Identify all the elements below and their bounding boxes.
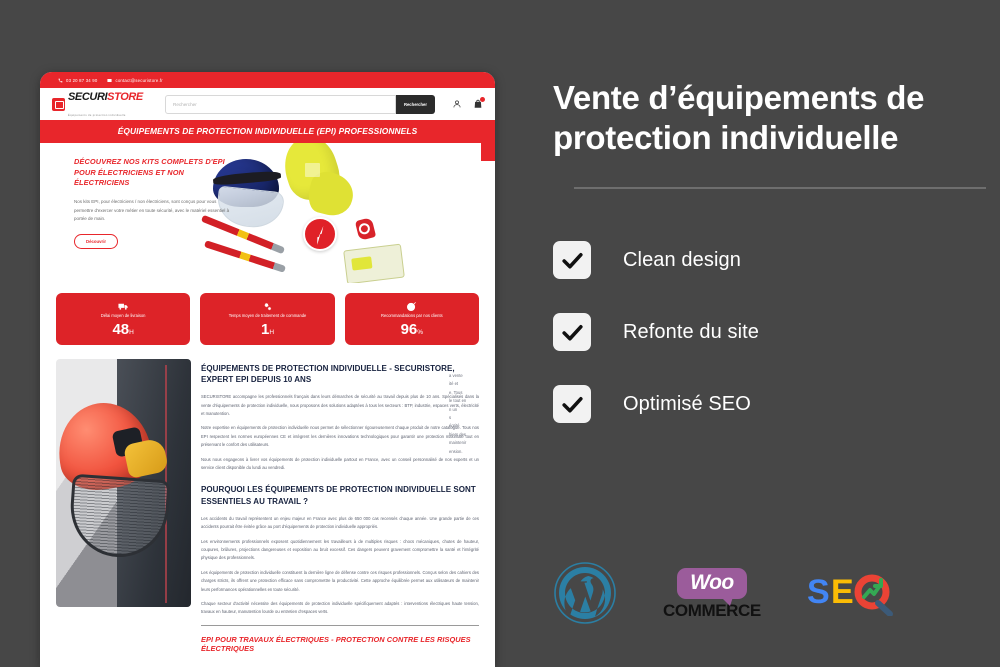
logo-tagline: Équipements de protection individuelle (68, 114, 126, 117)
stat-unit: H (129, 329, 134, 336)
article-heading-1: ÉQUIPEMENTS DE PROTECTION INDIVIDUELLE -… (201, 363, 479, 385)
feature-label: Refonte du site (623, 321, 759, 344)
article-paragraph: Nous nous engageons à livrer vos équipem… (201, 456, 479, 473)
article-paragraph: Chaque secteur d'activité nécessite des … (201, 600, 479, 617)
logo-name-red: STORE (107, 91, 143, 103)
article-paragraph: Les équipements de protection individuel… (201, 569, 479, 594)
stat-value: 96% (349, 322, 475, 337)
stat-card: Délai moyen de livraison 48H (56, 293, 190, 345)
gears-icon (204, 299, 330, 310)
technology-logos: Woo COMMERCE S E (553, 561, 899, 625)
woocommerce-logo-icon: Woo COMMERCE (663, 568, 761, 619)
truck-icon (60, 299, 186, 310)
stat-label: Délai moyen de livraison (60, 313, 186, 319)
electrical-hazard-sign-icon (303, 217, 337, 251)
feature-item-refonte-du-site: Refonte du site (553, 313, 1000, 351)
article-heading-2: POURQUOI LES ÉQUIPEMENTS DE PROTECTION I… (201, 484, 479, 506)
site-topbar: 03 20 87 34 90 contact@securistore.fr (40, 72, 495, 88)
feature-label: Clean design (623, 249, 741, 272)
topbar-email[interactable]: contact@securistore.fr (107, 78, 162, 83)
svg-text:S: S (807, 573, 830, 611)
stat-unit: % (417, 329, 423, 336)
topbar-email-text: contact@securistore.fr (115, 78, 162, 83)
stat-card: Recommandations par nos clients 96% (345, 293, 479, 345)
site-logo[interactable]: SECURISTORE Équipements de protection in… (52, 88, 157, 120)
feature-list: Clean design Refonte du site Optimisé SE… (553, 241, 1000, 423)
stat-number: 96 (401, 321, 418, 338)
phone-icon (58, 78, 63, 83)
hero-body: Nos kits EPI, pour électriciens / non él… (74, 198, 234, 223)
stat-label: Temps moyen de traitement de commande (204, 313, 330, 319)
site-header: SECURISTORE Équipements de protection in… (40, 88, 495, 120)
title-divider (574, 187, 986, 189)
stats-row: Délai moyen de livraison 48H Temps moyen… (40, 283, 495, 359)
article-paragraph: SECURISTORE accompagne les professionnel… (201, 393, 479, 418)
worker-photo (56, 359, 191, 607)
glove-label-icon (305, 163, 320, 177)
topbar-phone[interactable]: 03 20 87 34 90 (58, 78, 97, 83)
feature-item-optimise-seo: Optimisé SEO (553, 385, 1000, 423)
stat-number: 48 (112, 321, 129, 338)
user-icon[interactable] (452, 99, 462, 109)
cart-icon[interactable] (473, 99, 483, 109)
stat-unit: H (269, 329, 274, 336)
logo-name-dark: SECURI (68, 91, 107, 103)
feature-item-clean-design: Clean design (553, 241, 1000, 279)
hero-product-collage (205, 143, 495, 283)
check-icon (553, 385, 591, 423)
woo-bubble: Woo (677, 568, 747, 599)
product-pack-icon (343, 244, 405, 283)
wordpress-logo-icon (553, 561, 617, 625)
hero-red-strip (481, 143, 495, 161)
logo-mark-icon (52, 98, 65, 111)
mail-icon (107, 78, 112, 83)
website-mockup-stage: 03 20 87 34 90 contact@securistore.fr SE… (0, 0, 520, 667)
stat-card: Temps moyen de traitement de commande 1H (200, 293, 334, 345)
red-clamp-icon (355, 217, 376, 241)
hero-section: DÉCOUVREZ NOS KITS COMPLETS D'EPI POUR É… (40, 143, 495, 283)
hero-cta-button[interactable]: Découvrir (74, 234, 118, 249)
browser-window: 03 20 87 34 90 contact@securistore.fr SE… (40, 72, 495, 667)
topbar-phone-text: 03 20 87 34 90 (66, 78, 97, 83)
hero-copy: DÉCOUVREZ NOS KITS COMPLETS D'EPI POUR É… (74, 157, 234, 283)
hero-title: DÉCOUVREZ NOS KITS COMPLETS D'EPI POUR É… (74, 157, 234, 189)
svg-text:E: E (831, 573, 854, 611)
article-paragraph: Les environnements professionnels expose… (201, 538, 479, 563)
stat-value: 1H (204, 322, 330, 337)
feature-label: Optimisé SEO (623, 393, 751, 416)
search-area: Rechercher Rechercher (165, 95, 435, 114)
page-title: Vente d’équipements de protection indivi… (553, 78, 985, 157)
article-paragraph: Les accidents du travail représentent un… (201, 515, 479, 532)
article-divider (201, 625, 479, 626)
category-banner: ÉQUIPEMENTS DE PROTECTION INDIVIDUELLE (… (40, 120, 495, 143)
commerce-label: COMMERCE (663, 602, 761, 619)
right-panel: Vente d’équipements de protection indivi… (540, 0, 1000, 667)
seo-logo-icon: S E (807, 571, 899, 615)
check-icon (553, 241, 591, 279)
header-icons (443, 99, 483, 109)
article-paragraph: Notre expertise en équipements de protec… (201, 424, 479, 449)
stat-value: 48H (60, 322, 186, 337)
article-footer-heading: EPI POUR TRAVAUX ÉLECTRIQUES - PROTECTIO… (201, 635, 479, 653)
search-button[interactable]: Rechercher (396, 95, 435, 114)
search-input[interactable]: Rechercher (165, 95, 396, 114)
article-section: ÉQUIPEMENTS DE PROTECTION INDIVIDUELLE -… (40, 359, 495, 663)
woo-label: Woo (690, 571, 734, 594)
logo-text: SECURISTORE Équipements de protection in… (68, 88, 157, 120)
target-icon (349, 299, 475, 310)
article-text: ÉQUIPEMENTS DE PROTECTION INDIVIDUELLE -… (201, 359, 479, 653)
cart-badge (480, 97, 485, 102)
stat-label: Recommandations par nos clients (349, 313, 475, 319)
check-icon (553, 313, 591, 351)
